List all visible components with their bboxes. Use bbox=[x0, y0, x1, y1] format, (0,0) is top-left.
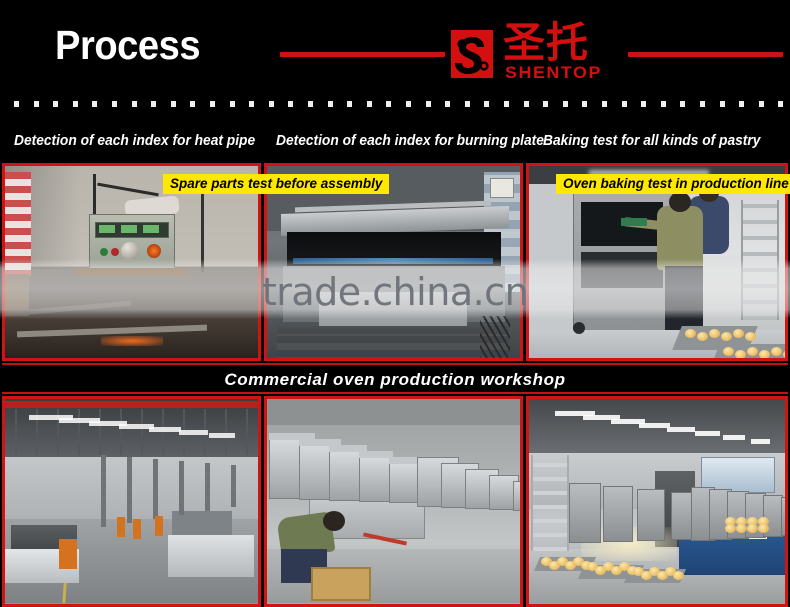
photo-workshop-hall bbox=[2, 396, 261, 607]
pastry-bun bbox=[747, 524, 758, 533]
worker-figure bbox=[155, 516, 163, 536]
callout-oven-baking-test: Oven baking test in production line bbox=[556, 174, 790, 194]
pastry-bun bbox=[721, 332, 732, 341]
divider-dot bbox=[112, 101, 117, 107]
logo-monogram-icon bbox=[443, 26, 499, 82]
roof-truss bbox=[162, 409, 164, 455]
skylight bbox=[751, 439, 770, 444]
divider-dot bbox=[328, 101, 333, 107]
divider-dot bbox=[484, 101, 489, 107]
skylight bbox=[209, 433, 235, 438]
pastry-bun bbox=[745, 332, 756, 341]
red-rule-left bbox=[280, 52, 445, 57]
photo-assembly-line bbox=[264, 396, 523, 607]
divider-dot bbox=[230, 101, 235, 107]
hall-column bbox=[179, 461, 184, 515]
divider-dot bbox=[661, 101, 666, 107]
skylight bbox=[695, 431, 720, 436]
hall-column bbox=[205, 463, 210, 511]
divider-dot bbox=[151, 101, 156, 107]
pastry-bun bbox=[783, 350, 785, 358]
divider-dot bbox=[190, 101, 195, 107]
divider-dot bbox=[524, 101, 529, 107]
divider-dot bbox=[504, 101, 509, 107]
finished-oven bbox=[637, 489, 665, 541]
middle-banner: Commercial oven production workshop bbox=[2, 363, 788, 394]
pastry-bun bbox=[697, 332, 708, 341]
caption-burning-plate: Detection of each index for burning plat… bbox=[276, 133, 544, 149]
oven-unit-top bbox=[359, 451, 393, 458]
divider-dot bbox=[622, 101, 627, 107]
skylight bbox=[149, 427, 181, 432]
divider-dot bbox=[73, 101, 78, 107]
roof-truss bbox=[99, 409, 101, 455]
finished-oven bbox=[781, 497, 785, 536]
roof-truss bbox=[141, 409, 143, 455]
caption-baking-test: Baking test for all kinds of pastry bbox=[543, 133, 760, 149]
divider-dot bbox=[778, 101, 783, 107]
divider-dot bbox=[759, 101, 764, 107]
dotted-divider bbox=[0, 101, 790, 108]
divider-dot bbox=[543, 101, 548, 107]
divider-dot bbox=[367, 101, 372, 107]
pastry-bun bbox=[673, 571, 684, 580]
pastry-bun bbox=[735, 350, 746, 358]
divider-dot bbox=[641, 101, 646, 107]
divider-dot bbox=[426, 101, 431, 107]
divider-dot bbox=[700, 101, 705, 107]
divider-dot bbox=[386, 101, 391, 107]
process-banner: Process 圣托 SHENTOP Detection of each ind… bbox=[0, 0, 790, 607]
divider-dot bbox=[445, 101, 450, 107]
divider-dot bbox=[720, 101, 725, 107]
divider-dot bbox=[308, 101, 313, 107]
skylight bbox=[179, 430, 208, 435]
divider-dot bbox=[465, 101, 470, 107]
divider-dot bbox=[563, 101, 568, 107]
skylight bbox=[667, 427, 695, 432]
divider-dot bbox=[210, 101, 215, 107]
divider-dot bbox=[582, 101, 587, 107]
pastry-bun bbox=[736, 524, 747, 533]
banner-header: Process 圣托 SHENTOP bbox=[0, 0, 790, 92]
pastry-bun bbox=[758, 524, 769, 533]
divider-dot bbox=[92, 101, 97, 107]
finished-oven bbox=[603, 486, 633, 542]
callout-spare-parts-test: Spare parts test before assembly bbox=[163, 174, 389, 194]
divider-dot bbox=[53, 101, 58, 107]
worker-figure bbox=[133, 519, 141, 539]
roof-truss bbox=[225, 409, 227, 455]
pastry-bun bbox=[723, 347, 734, 356]
shentop-logo: 圣托 SHENTOP bbox=[443, 22, 633, 84]
divider-dot bbox=[406, 101, 411, 107]
divider-dot bbox=[249, 101, 254, 107]
skylight bbox=[723, 435, 745, 440]
pastry-bun bbox=[747, 347, 758, 356]
oven-unit-top bbox=[389, 457, 419, 464]
photo-finished-oven-hall bbox=[526, 396, 788, 607]
worker-figure bbox=[117, 517, 125, 537]
pastry-bun bbox=[685, 329, 696, 338]
pastry-bun bbox=[759, 350, 770, 358]
hall-column bbox=[127, 457, 132, 523]
middle-banner-text: Commercial oven production workshop bbox=[2, 370, 788, 390]
divider-dot bbox=[739, 101, 744, 107]
roof-truss bbox=[120, 409, 122, 455]
hall-column bbox=[231, 465, 236, 507]
divider-dot bbox=[347, 101, 352, 107]
divider-dot bbox=[171, 101, 176, 107]
logo-chinese-text: 圣托 bbox=[503, 21, 589, 65]
oven-unit bbox=[513, 481, 520, 511]
red-rule-right bbox=[628, 52, 783, 57]
pastry-bun bbox=[771, 347, 782, 356]
page-title: Process bbox=[55, 25, 200, 66]
divider-dot bbox=[132, 101, 137, 107]
caption-heat-pipe: Detection of each index for heat pipe bbox=[14, 133, 255, 149]
divider-dot bbox=[34, 101, 39, 107]
divider-dot bbox=[602, 101, 607, 107]
hall-column bbox=[153, 459, 158, 519]
caption-row: Detection of each index for heat pipe De… bbox=[0, 133, 790, 163]
finished-oven bbox=[569, 483, 601, 543]
divider-dot bbox=[288, 101, 293, 107]
pastry-bun bbox=[725, 524, 736, 533]
divider-dot bbox=[14, 101, 19, 107]
divider-dot bbox=[680, 101, 685, 107]
roof-truss bbox=[15, 409, 17, 455]
hall-column bbox=[101, 455, 106, 527]
skylight bbox=[639, 423, 670, 428]
roof-truss bbox=[78, 409, 80, 455]
pastry-bun bbox=[733, 329, 744, 338]
pastry-bun bbox=[709, 329, 720, 338]
roof-truss bbox=[246, 409, 248, 455]
logo-english-text: SHENTOP bbox=[505, 64, 602, 81]
divider-dot bbox=[269, 101, 274, 107]
photo-row-bottom bbox=[0, 396, 790, 607]
